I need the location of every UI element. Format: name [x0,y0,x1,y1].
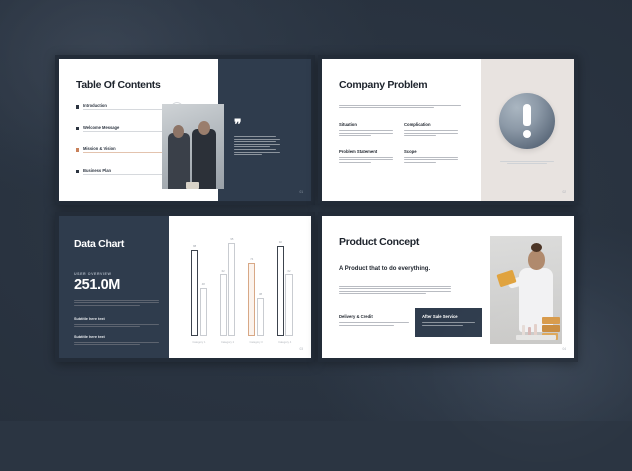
chart-blurb-text [74,298,159,307]
page-title: Product Concept [339,236,419,248]
product-photo [490,236,562,344]
chart-right-panel: 88 48 Category 1 62 95 Category 2 74 38 [169,216,311,358]
toc-quote-text [234,136,280,155]
bar: 62 [285,274,292,336]
list-item-label: Welcome Message [83,125,119,130]
subtitle-heading: Subtitle here text [74,335,159,339]
problem-intro-text [339,103,461,110]
section-problem-statement: Problem Statement [339,149,404,165]
chart-subtitle-block-2: Subtitle here text [74,335,159,347]
section-heading: Situation [339,122,404,127]
page-number: 04 [562,347,566,351]
bar-category-label: Category 1 [192,341,205,344]
bar: 95 [228,243,235,336]
page-title: Company Problem [339,79,427,91]
card-heading: Delivery & Credit [339,314,409,319]
card-after-sale-service[interactable]: After Sale Service [415,308,482,337]
card-heading: After Sale Service [422,314,475,319]
section-scope: Scope [404,149,469,165]
divider [83,131,167,132]
toc-quote-block: ❞ [234,121,280,157]
bar-category-label: Category 2 [221,341,234,344]
bar-group: 88 48 Category 1 [191,240,207,336]
section-situation: Situation [339,122,404,138]
bar-group: 92 62 Category 4 [277,240,293,336]
product-lead-headline: A Product that to do everything. [339,266,445,274]
card-delivery-and-credit[interactable]: Delivery & Credit [339,314,409,327]
page-number: 01 [299,190,303,194]
bar: 74 [248,263,255,336]
slide-data-chart[interactable]: 88 48 Category 1 62 95 Category 2 74 38 [55,212,315,362]
bar-group: 74 38 Category 3 [248,240,264,336]
bullet-square-icon [76,105,79,108]
list-item-label: Mission & Vision [83,146,116,151]
slide-canvas: Company Problem Situation Complication [322,59,574,201]
page-title: Table Of Contents [76,79,161,91]
slide-table-of-contents[interactable]: Table Of Contents Introduction 01 Welcom… [55,55,315,205]
page-title: Data Chart [74,238,124,250]
quotation-mark-icon: ❞ [234,121,280,130]
divider [83,109,167,110]
slide-canvas: 88 48 Category 1 62 95 Category 2 74 38 [59,216,311,358]
chart-big-value: 251.0M [74,277,120,293]
bar: 38 [257,298,264,336]
slide-company-problem[interactable]: Company Problem Situation Complication [318,55,578,205]
section-heading: Problem Statement [339,149,404,154]
divider [83,152,167,153]
bar: 92 [277,246,284,336]
section-complication: Complication [404,122,469,138]
page-number: 03 [299,347,303,351]
section-body [404,157,458,163]
list-item-label: Introduction [83,103,107,108]
problem-sections: Situation Complication Problem Statement [339,122,469,176]
problem-right-panel [481,59,574,201]
bullet-square-icon [76,148,79,151]
bar-category-label: Category 3 [250,341,263,344]
bar-chart: 88 48 Category 1 62 95 Category 2 74 38 [185,240,299,336]
bar-group: 62 95 Category 2 [220,240,236,336]
page-number: 02 [562,190,566,194]
section-body [339,157,393,163]
slide-canvas: Table Of Contents Introduction 01 Welcom… [59,59,311,201]
badge-caption [493,159,562,166]
bar: 48 [200,288,207,336]
divider [83,174,167,175]
chart-subtitle-block-1: Subtitle here text [74,317,159,329]
chart-kicker-label: USER OVERVIEW [74,272,111,276]
product-paragraph [339,284,451,296]
section-body [404,130,458,136]
presentation-preview-canvas: Table Of Contents Introduction 01 Welcom… [0,0,632,421]
section-heading: Complication [404,122,469,127]
exclamation-mark-icon [499,93,555,149]
bullet-square-icon [76,170,79,173]
list-item-label: Business Plan [83,168,111,173]
bar-category-label: Category 4 [278,341,291,344]
slide-product-concept[interactable]: Product Concept A Product that to do eve… [318,212,578,362]
bar: 88 [191,250,198,336]
bar: 62 [220,274,227,336]
section-heading: Scope [404,149,469,154]
toc-photo [162,104,224,189]
slide-canvas: Product Concept A Product that to do eve… [322,216,574,358]
bullet-square-icon [76,127,79,130]
section-body [339,130,393,136]
subtitle-heading: Subtitle here text [74,317,159,321]
